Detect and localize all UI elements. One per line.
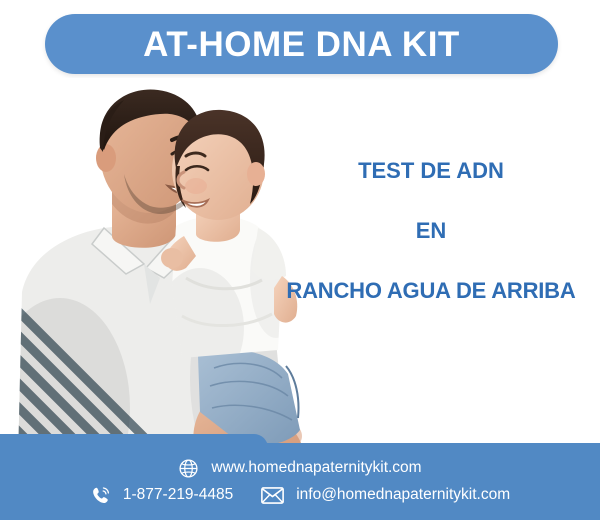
website-label: www.homednapaternitykit.com: [211, 460, 421, 476]
headline-line-3: RANCHO AGUA DE ARRIBA: [262, 280, 600, 302]
header-title: AT-HOME DNA KIT: [143, 27, 460, 62]
headline-block: TEST DE ADN EN RANCHO AGUA DE ARRIBA: [262, 160, 600, 302]
website-item[interactable]: www.homednapaternitykit.com: [178, 458, 421, 479]
footer-row-website: www.homednapaternitykit.com: [178, 458, 421, 479]
footer-rows: www.homednapaternitykit.com 1-877-219-44…: [0, 443, 600, 520]
envelope-icon: [261, 486, 284, 505]
phone-icon: [90, 485, 111, 506]
phone-label: 1-877-219-4485: [123, 487, 233, 503]
email-item[interactable]: info@homednapaternitykit.com: [261, 486, 510, 505]
footer-row-phone-email: 1-877-219-4485 info@homednapaternitykit.…: [90, 485, 510, 506]
headline-line-1: TEST DE ADN: [262, 160, 600, 182]
header-banner-pill: AT-HOME DNA KIT: [45, 14, 558, 74]
footer-contact-bar: www.homednapaternitykit.com 1-877-219-44…: [0, 434, 600, 520]
phone-item[interactable]: 1-877-219-4485: [90, 485, 233, 506]
poster-canvas: AT-HOME DNA KIT: [0, 0, 600, 520]
email-label: info@homednapaternitykit.com: [296, 487, 510, 503]
headline-line-2: EN: [262, 220, 600, 242]
globe-icon: [178, 458, 199, 479]
